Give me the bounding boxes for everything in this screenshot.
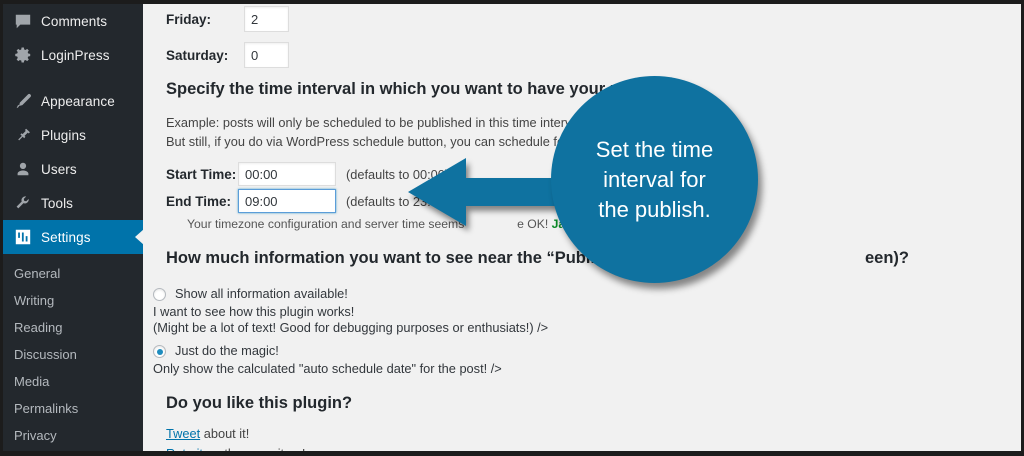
sliders-icon [14,228,32,246]
paintbrush-icon [14,92,32,110]
sidebar-item-label: Comments [41,14,107,29]
sidebar-item-loginpress[interactable]: LoginPress [3,38,143,72]
sidebar-item-appearance[interactable]: Appearance [3,84,143,118]
sidebar-item-label: Users [41,162,77,177]
submenu-item-media[interactable]: Media [3,368,143,395]
sidebar-item-settings[interactable]: Settings [3,220,143,254]
end-time-input[interactable] [238,189,336,213]
end-time-label: End Time: [166,194,238,209]
sidebar-item-label: LoginPress [41,48,110,63]
submenu-item-permalinks[interactable]: Permalinks [3,395,143,422]
sidebar-item-label: Appearance [41,94,115,109]
tweet-link[interactable]: Tweet [166,426,200,441]
tweet-rest: about it! [200,426,249,441]
like-plugin-heading: Do you like this plugin? [166,394,352,413]
submenu-item-reading[interactable]: Reading [3,314,143,341]
friday-input[interactable] [244,6,289,32]
saturday-label: Saturday: [166,48,244,63]
start-time-row: Start Time: (defaults to 00:00) [166,162,449,186]
example-line-2: But still, if you do via WordPress sched… [166,133,600,150]
example-line-1: Example: posts will only be scheduled to… [166,114,585,131]
wrench-icon [14,194,32,212]
sidebar-item-users[interactable]: Users [3,152,143,186]
admin-sidebar: Comments LoginPress Appearance Plugins [3,4,143,451]
sidebar-item-plugins[interactable]: Plugins [3,118,143,152]
callout-text: Set the time interval for the publish. [578,135,731,225]
user-icon [14,160,32,178]
sidebar-item-comments[interactable]: Comments [3,4,143,38]
submenu-item-disable-gutenberg[interactable]: Disable Gutenberg [3,449,143,456]
settings-submenu: General Writing Reading Discussion Media… [3,254,143,456]
start-time-label: Start Time: [166,167,238,182]
end-time-row: End Time: (defaults to 23:59) [166,189,449,213]
saturday-row: Saturday: [166,42,289,68]
option-magic-row[interactable]: Just do the magic! [153,343,279,358]
radio-show-all[interactable] [153,288,166,301]
plug-icon [14,126,32,144]
sidebar-item-tools[interactable]: Tools [3,186,143,220]
comments-icon [14,12,32,30]
sidebar-item-label: Plugins [41,128,86,143]
option-show-all-row[interactable]: Show all information available! [153,286,348,301]
rate-rest: on the repository! [203,446,305,456]
callout-bubble: Set the time interval for the publish. [551,76,758,283]
option-show-all-detail-1: I want to see how this plugin works! [153,304,354,321]
tweet-line: Tweet about it! [166,425,249,442]
sidebar-item-label: Settings [41,230,91,245]
radio-just-do-the-magic[interactable] [153,345,166,358]
gear-icon [14,46,32,64]
option-show-all-detail-2: (Might be a lot of text! Good for debugg… [153,320,548,337]
info-heading-left: How much information you want to see nea… [166,249,637,268]
info-heading-right: een)? [865,249,909,268]
option-show-all-label: Show all information available! [175,286,348,301]
rate-link[interactable]: Rate it [166,446,203,456]
sidebar-divider [3,72,143,84]
saturday-input[interactable] [244,42,289,68]
submenu-item-writing[interactable]: Writing [3,287,143,314]
option-magic-detail-1: Only show the calculated "auto schedule … [153,361,502,378]
submenu-item-privacy[interactable]: Privacy [3,422,143,449]
sidebar-item-label: Tools [41,196,73,211]
submenu-item-discussion[interactable]: Discussion [3,341,143,368]
friday-row: Friday: [166,6,289,32]
friday-label: Friday: [166,12,244,27]
submenu-item-general[interactable]: General [3,260,143,287]
rate-line: Rate it on the repository! [166,445,305,456]
screenshot-frame: Comments LoginPress Appearance Plugins [0,0,1024,456]
option-magic-label: Just do the magic! [175,343,279,358]
start-time-input[interactable] [238,162,336,186]
